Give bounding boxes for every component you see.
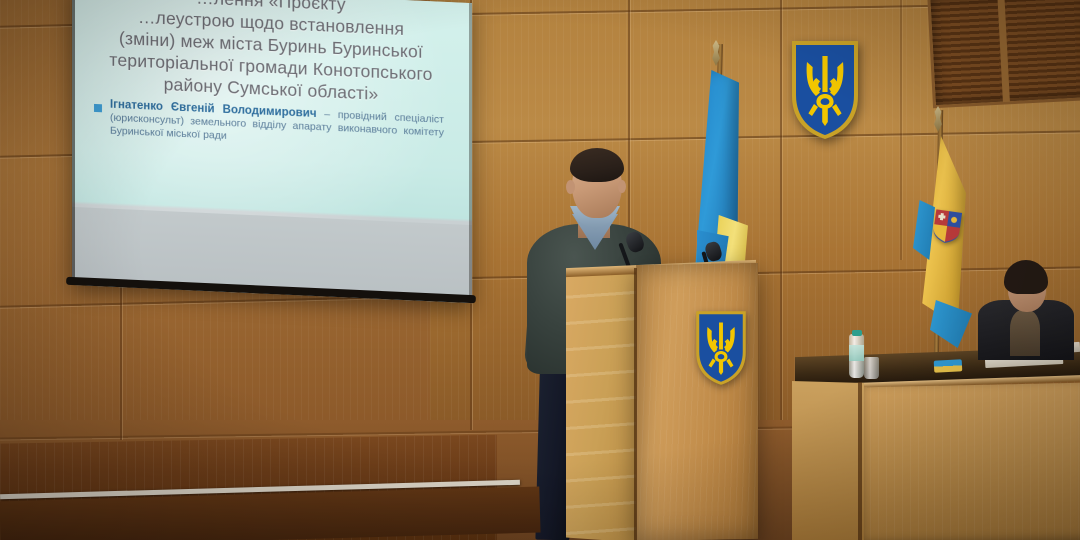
- speaker-hair: [570, 148, 624, 182]
- ukraine-coat-of-arms-icon: [789, 38, 861, 142]
- ukraine-coat-of-arms-wall: [789, 38, 861, 142]
- table-seam: [858, 382, 862, 540]
- city-coat-of-arms-icon: [931, 208, 963, 246]
- screen-edge: [469, 3, 472, 303]
- wall-seam: [900, 0, 902, 260]
- presidium-table-side: [792, 381, 864, 540]
- bottle-cap: [852, 330, 862, 336]
- screen-edge: [72, 0, 75, 285]
- bullet-square-icon: [94, 104, 102, 112]
- bottle-label: [849, 345, 864, 361]
- speaker-ear: [566, 180, 575, 194]
- speaker-ear: [618, 180, 626, 193]
- podium-seam: [634, 268, 637, 540]
- drinking-glass: [864, 357, 879, 379]
- conference-hall-photo: …лення «Проєкту …леустрою щодо встановле…: [0, 0, 1080, 540]
- ukraine-coat-of-arms-icon: [694, 308, 748, 388]
- projection-screen: …лення «Проєкту …леустрою щодо встановле…: [72, 0, 472, 303]
- seated-official-shirt: [1010, 310, 1040, 356]
- desk-flag: [934, 359, 963, 372]
- slide-title: …лення «Проєкту …леустрою щодо встановле…: [82, 0, 460, 109]
- podium-side-panel: [566, 269, 638, 540]
- wall-seam: [628, 0, 630, 260]
- wall-seam: [780, 0, 782, 420]
- ukraine-coat-of-arms-podium: [694, 308, 748, 388]
- podium-front-panel: [636, 263, 758, 540]
- presidium-table-front: [862, 383, 1080, 540]
- city-coat-of-arms: [931, 208, 963, 246]
